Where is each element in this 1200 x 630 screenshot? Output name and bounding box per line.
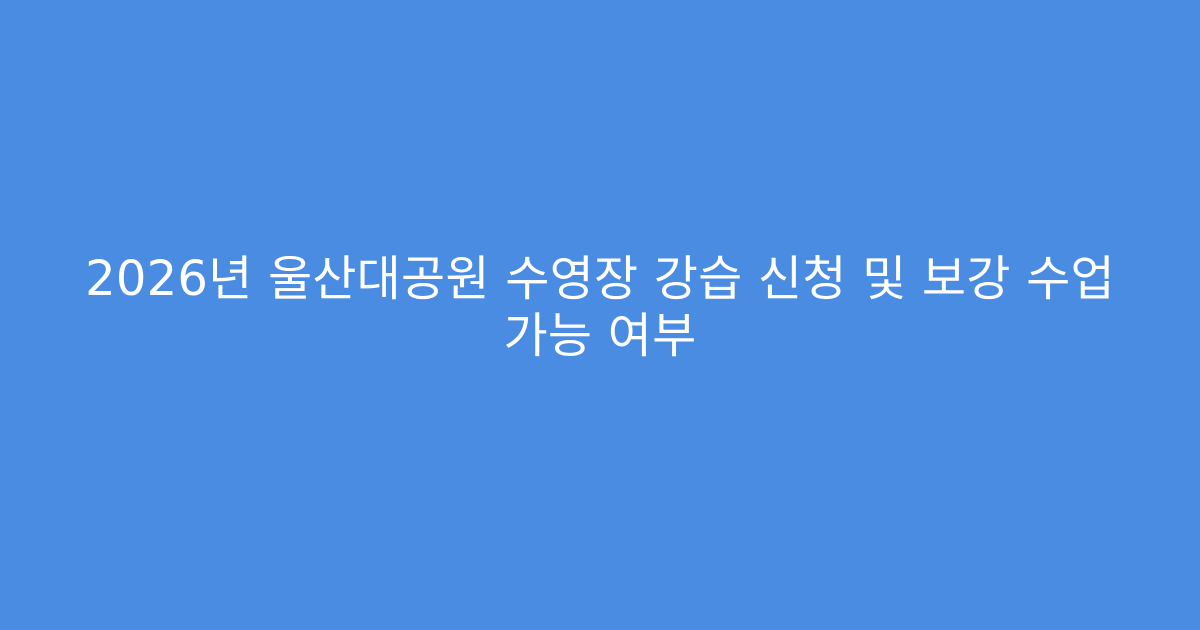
page-title: 2026년 울산대공원 수영장 강습 신청 및 보강 수업 가능 여부	[64, 251, 1136, 365]
title-block: 2026년 울산대공원 수영장 강습 신청 및 보강 수업 가능 여부	[64, 251, 1136, 365]
og-card: 2026년 울산대공원 수영장 강습 신청 및 보강 수업 가능 여부	[0, 0, 1200, 630]
